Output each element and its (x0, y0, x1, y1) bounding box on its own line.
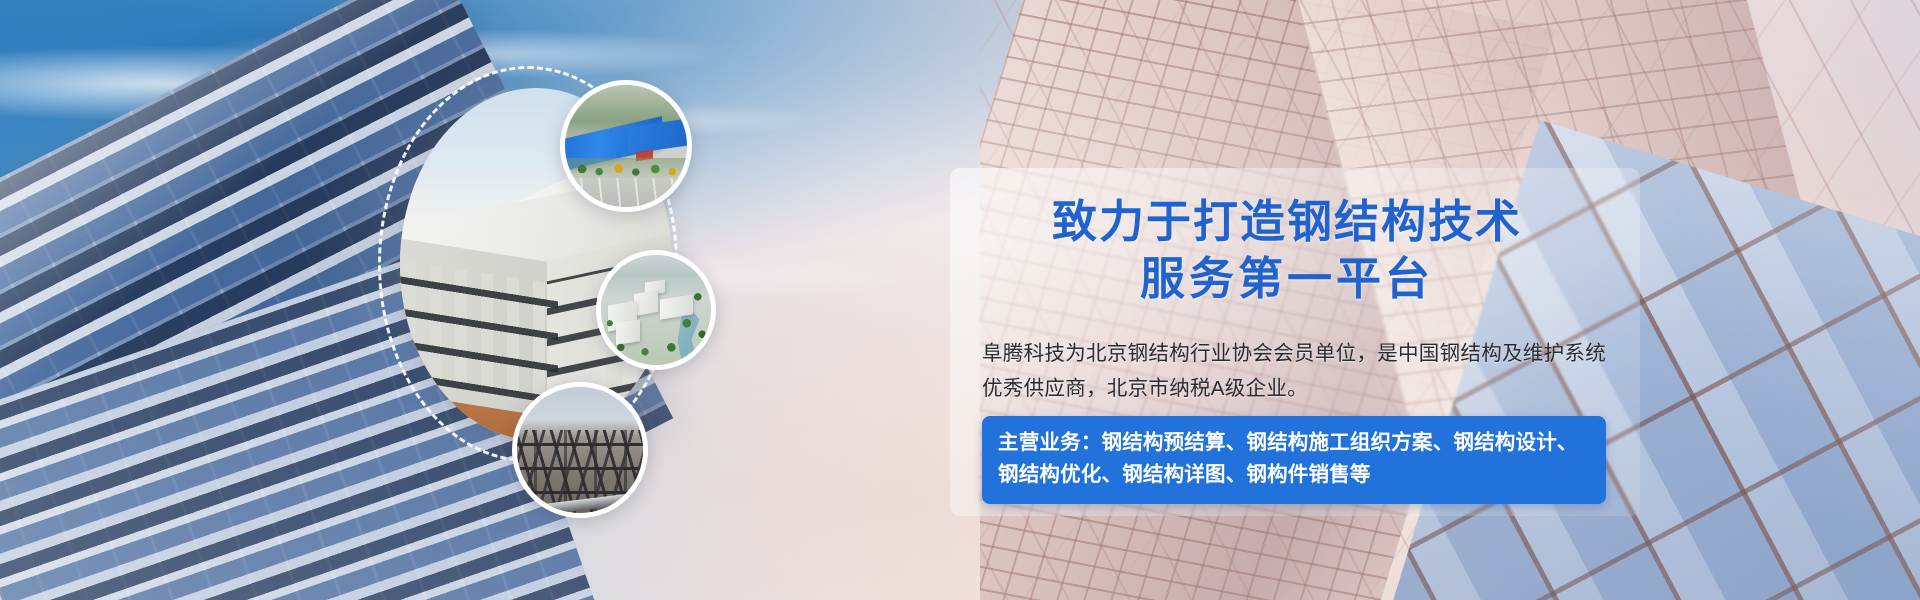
headline-line-1: 致力于打造钢结构技术 (1052, 195, 1522, 248)
hero-banner: 致力于打造钢结构技术 服务第一平台 阜腾科技为北京钢结构行业协会会员单位，是中国… (0, 0, 1920, 600)
steel-truss-roof-photo (517, 387, 643, 513)
photo-circle-aerial-white-campus (596, 250, 716, 370)
aerial-white-campus-photo (601, 255, 711, 365)
aerial-blue-roof-photo (565, 85, 687, 207)
headline: 致力于打造钢结构技术 服务第一平台 (950, 194, 1624, 307)
headline-line-2: 服务第一平台 (950, 251, 1624, 308)
text-panel: 致力于打造钢结构技术 服务第一平台 阜腾科技为北京钢结构行业协会会员单位，是中国… (950, 168, 1640, 516)
factory-windows-left (400, 258, 558, 404)
photo-circle-steel-truss-roof (512, 382, 648, 518)
photo-circle-cluster (420, 58, 780, 538)
campus-trees (601, 255, 711, 365)
photo-circle-aerial-blue-roof-factory (560, 80, 692, 212)
description-text: 阜腾科技为北京钢结构行业协会会员单位，是中国钢结构及维护系统优秀供应商，北京市纳… (982, 336, 1620, 407)
business-scope-box: 主营业务：钢结构预结算、钢结构施工组织方案、钢结构设计、钢结构优化、钢结构详图、… (982, 416, 1606, 504)
parking-lot (565, 178, 687, 207)
